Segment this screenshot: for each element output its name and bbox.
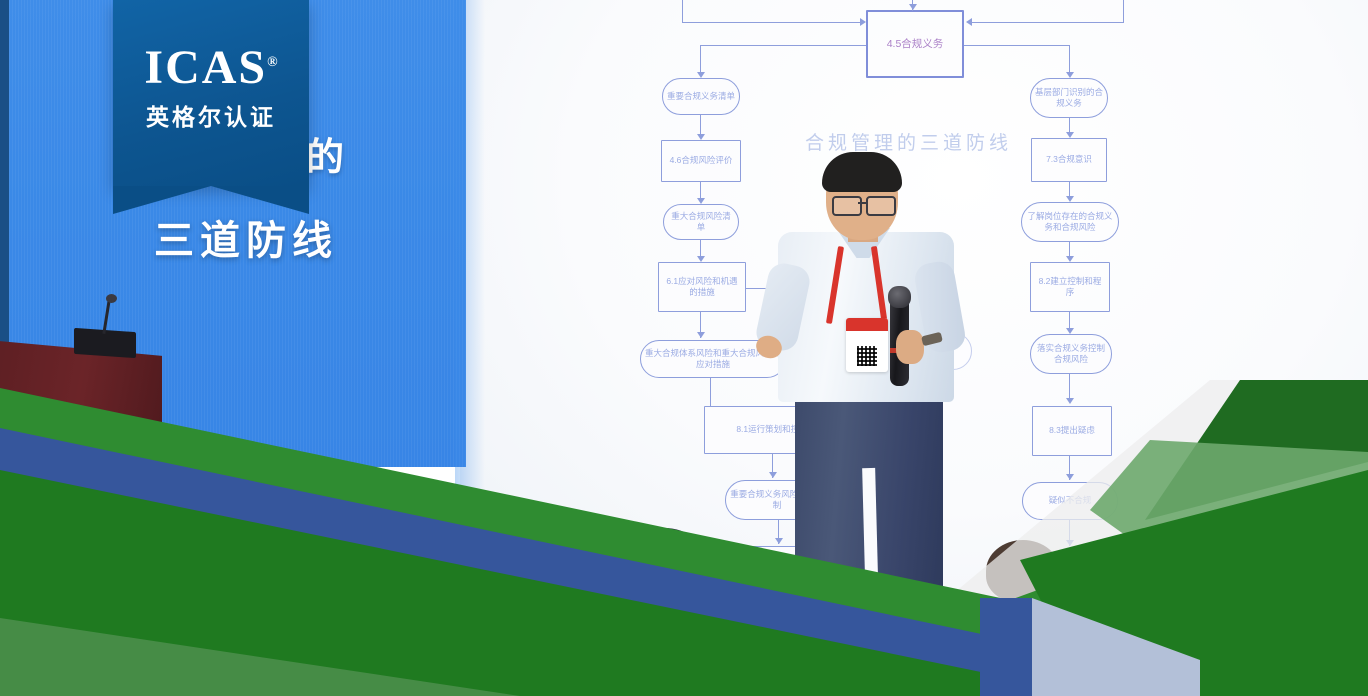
flow-arrow-icon [1066, 398, 1074, 404]
flow-node-major-risk-list: 重大合规风险清单 [663, 204, 739, 240]
flow-arrow-icon [697, 332, 705, 338]
flow-node-implement-obligation-control: 落实合规义务控制合规风险 [1030, 334, 1112, 374]
flow-line [964, 45, 1070, 46]
audience-head [986, 540, 1060, 602]
icas-logo-badge: ICAS® 英格尔认证 [113, 0, 309, 186]
badge-notch-shape [113, 186, 309, 214]
podium [0, 340, 162, 486]
flow-line [710, 378, 711, 406]
flow-arrow-icon [1066, 474, 1074, 480]
flow-arrow-icon [860, 18, 866, 26]
presentation-photo: 合规管理的 三道防线 ICAS® 英格尔认证 合规管理的三道防线 4.5合规义务 [0, 0, 1368, 696]
icas-chinese-name: 英格尔认证 [113, 98, 309, 132]
attendee-badge [846, 318, 888, 372]
speaker-right-hand [896, 330, 924, 364]
audience-head [626, 528, 704, 590]
flow-line [968, 22, 1124, 23]
flow-node-compliance-obligation: 4.5合规义务 [866, 10, 964, 78]
glasses-bridge-icon [858, 202, 866, 204]
flow-node-compliance-awareness: 7.3合规意识 [1031, 138, 1107, 182]
registered-mark-icon: ® [267, 55, 277, 70]
flow-arrow-icon [775, 538, 783, 544]
overlay-blue-slab [980, 598, 1032, 696]
flow-node-establish-controls: 8.2建立控制和程序 [1030, 262, 1110, 312]
flow-node-suspected-noncompliance: 疑似不合规 [1022, 482, 1118, 520]
flow-node-know-position-obligations: 了解岗位存在的合规义务和合规风险 [1021, 202, 1119, 242]
audience-head [1176, 584, 1262, 644]
flow-node-risk-response-measures: 6.1应对风险和机遇的措施 [658, 262, 746, 312]
flow-line [700, 45, 866, 46]
flow-node-department-identified-obligation: 基层部门识别的合规义务 [1030, 78, 1108, 118]
wall-slide-line2: 三道防线 [96, 208, 396, 266]
flow-node-key-obligation-list: 重要合规义务清单 [662, 78, 740, 115]
flow-arrow-icon [909, 4, 917, 10]
flow-node-raise-concerns: 8.3提出疑虑 [1032, 406, 1112, 456]
icas-wordmark: ICAS® [113, 44, 309, 92]
flow-arrow-icon [1066, 540, 1074, 546]
flow-arrow-icon [966, 18, 972, 26]
handheld-microphone-grille-icon [888, 286, 911, 308]
overlay-bluegrey-slab [1032, 598, 1200, 696]
flow-line [682, 22, 862, 23]
flow-line [1123, 0, 1124, 23]
podium-microphone-head-icon [106, 294, 117, 303]
glasses-right-lens-icon [866, 196, 896, 216]
speaker-hair [822, 152, 902, 192]
slide-heading: 合规管理的三道防线 [805, 128, 1012, 155]
flow-node-risk-evaluation: 4.6合规风险评价 [661, 140, 741, 182]
qr-code-icon [857, 346, 877, 366]
flow-line [682, 0, 683, 23]
overlay-green-light-slab [0, 618, 520, 696]
badge-header-strip [846, 318, 888, 331]
glasses-left-lens-icon [832, 196, 862, 216]
icas-wordmark-text: ICAS [144, 41, 267, 94]
flow-arrow-icon [769, 472, 777, 478]
